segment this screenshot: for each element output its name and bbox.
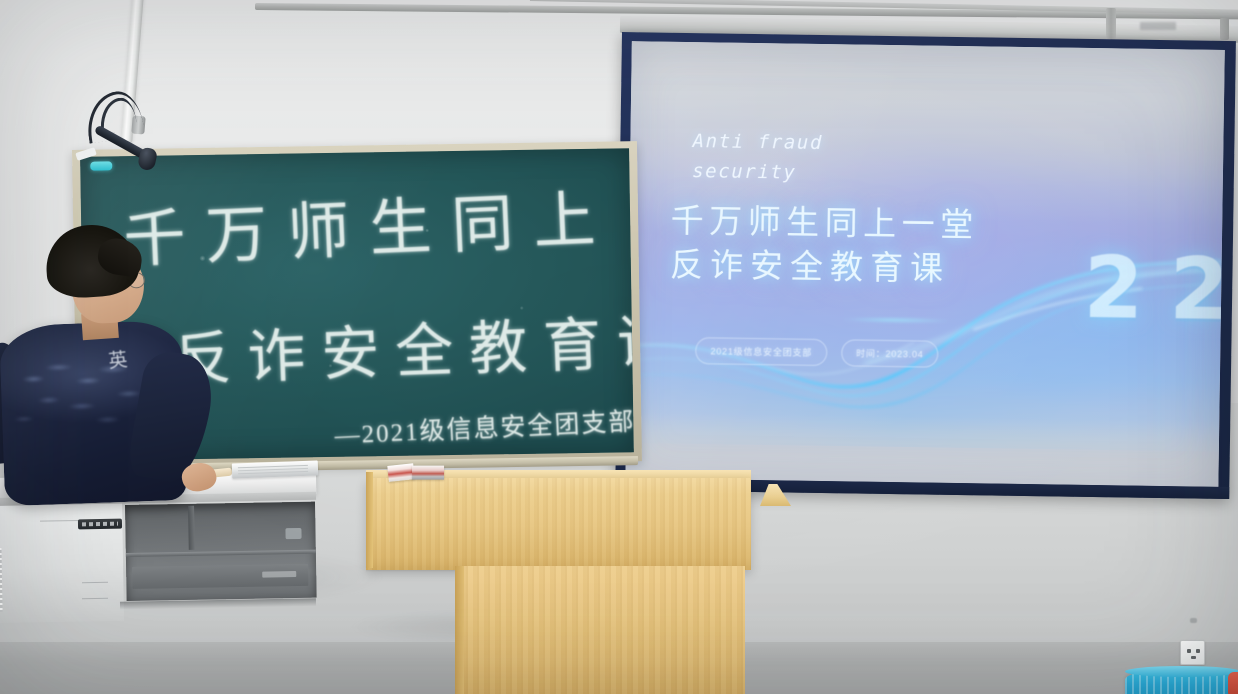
sweatshirt-logo: 英 <box>107 344 135 369</box>
slide-title: 千万师生同上一堂 反诈安全教育课 <box>670 199 979 291</box>
lectern-paper-1 <box>387 463 415 482</box>
screen-surface: 2 2 Anti fraud security 千万师生同上一堂 反诈安全教育课… <box>625 41 1224 487</box>
desk-paper-stack <box>232 461 318 479</box>
blackboard-text-line-2: 反诈安全教育课 <box>172 294 634 397</box>
cavity-drawer <box>132 564 308 589</box>
basket-rim <box>1125 666 1238 677</box>
desk-nameplate <box>78 519 122 530</box>
lectern-left-edge <box>366 472 373 568</box>
basket-red-object <box>1228 672 1238 694</box>
cavity-power-socket <box>285 528 301 539</box>
year-watermark: 2 2 <box>1083 238 1225 340</box>
slide-eyebrow: Anti fraud security <box>692 127 823 188</box>
presentation-slide: 2 2 Anti fraud security 千万师生同上一堂 反诈安全教育课… <box>625 41 1224 487</box>
teacher-desk-cavity <box>125 502 317 601</box>
lectern-column-grain <box>455 566 745 694</box>
classroom-photo-scene: 2 2 Anti fraud security 千万师生同上一堂 反诈安全教育课… <box>0 0 1238 694</box>
roller-label-decal <box>1140 22 1176 30</box>
cavity-shelf <box>126 550 316 557</box>
lectern-papers <box>388 461 447 481</box>
slide-pill-organization: 2021级信息安全团支部 <box>695 337 827 366</box>
power-outlet-icon[interactable] <box>1180 640 1205 665</box>
lectern-column-left-edge <box>455 566 464 694</box>
wall-anchor-screw <box>1190 618 1197 623</box>
blackboard-corner-sticker <box>90 161 112 170</box>
projection-screen: 2 2 Anti fraud security 千万师生同上一堂 反诈安全教育课… <box>615 32 1236 499</box>
slide-pill-date: 时间：2023.04 <box>841 339 939 367</box>
slide-title-line-1: 千万师生同上一堂 <box>670 199 979 247</box>
rail-end-bracket <box>1220 18 1229 40</box>
slide-eyebrow-line-2: security <box>692 157 823 188</box>
standing-person: 英 <box>0 225 221 515</box>
lectern-front-panel <box>366 478 751 570</box>
slide-eyebrow-line-1: Anti fraud <box>692 127 823 158</box>
lectern-column <box>455 566 745 694</box>
lectern-wood-grain <box>366 478 751 570</box>
lectern-paper-2 <box>412 466 444 480</box>
slide-pill-row: 2021级信息安全团支部 时间：2023.04 <box>695 337 939 368</box>
slide-title-line-2: 反诈安全教育课 <box>670 243 979 291</box>
